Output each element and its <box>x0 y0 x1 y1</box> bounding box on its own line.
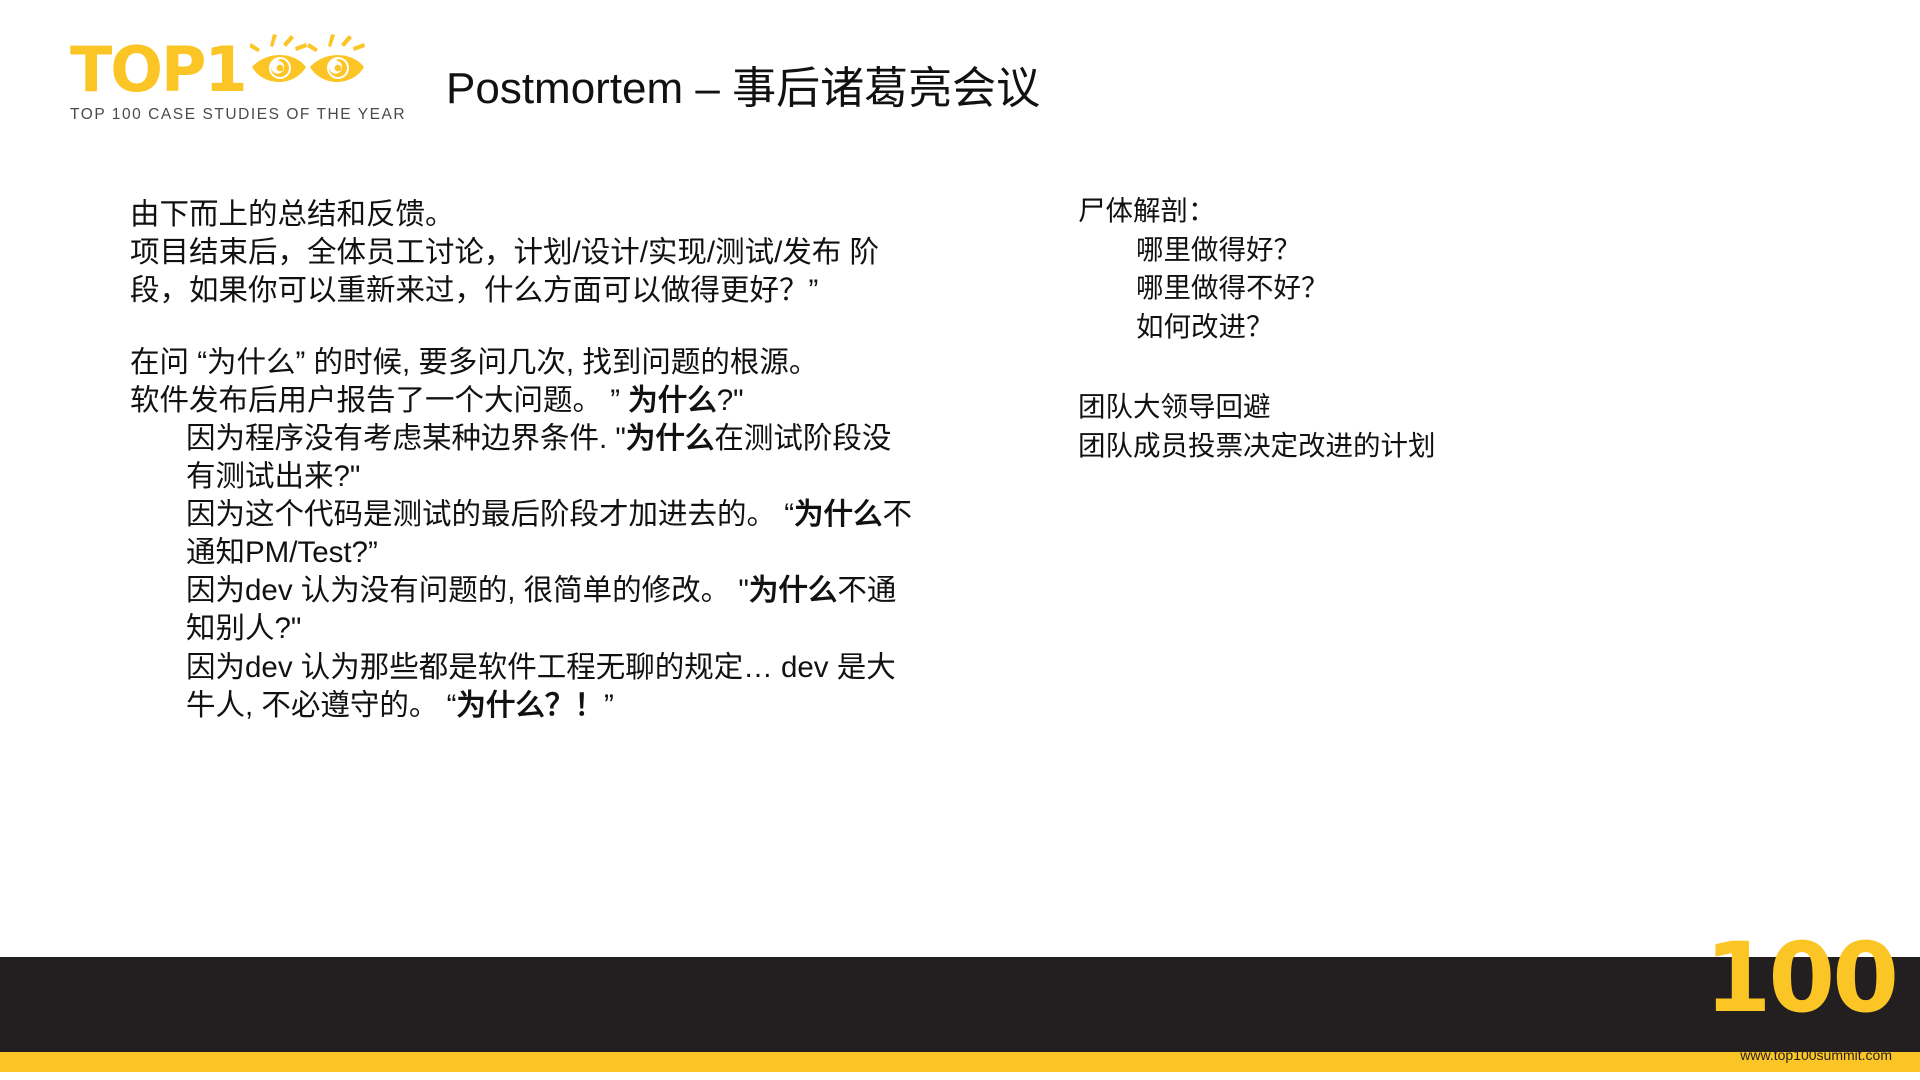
why-answer-2-prefix: 因为这个代码是测试的最后阶段才加进去的。 “ <box>186 498 794 531</box>
team-rule-1: 团队大领导回避 <box>1078 388 1618 427</box>
right-content-column: 尸体解剖： 哪里做得好？ 哪里做得不好？ 如何改进？ 团队大领导回避 团队成员投… <box>1078 192 1618 465</box>
footer-number: 100 <box>1705 939 1896 1018</box>
why-answer-4-bold: 为什么？！ <box>456 689 604 722</box>
why-answer-1-bold: 为什么 <box>626 422 715 455</box>
slide-canvas: TOP1 <box>0 0 1920 1080</box>
logo-tagline: TOP 100 CASE STUDIES OF THE YEAR <box>70 106 470 124</box>
why-answer-4-suffix: ” <box>604 689 614 722</box>
footer-url: www.top100summit.com <box>1740 1047 1892 1063</box>
autopsy-item-3: 如何改进？ <box>1078 308 1618 347</box>
autopsy-item-2: 哪里做得不好？ <box>1078 269 1618 308</box>
autopsy-item-1: 哪里做得好？ <box>1078 231 1618 270</box>
why-answer-4: 因为dev 认为那些都是软件工程无聊的规定… dev 是大牛人, 不必遵守的。 … <box>130 649 920 725</box>
team-rules-block: 团队大领导回避 团队成员投票决定改进的计划 <box>1078 388 1618 465</box>
team-rule-2: 团队成员投票决定改进的计划 <box>1078 427 1618 466</box>
why-answer-3-prefix: 因为dev 认为没有问题的, 很简单的修改。 " <box>186 574 749 607</box>
why-intro-line: 在问 “为什么” 的时候, 要多问几次, 找到问题的根源。 <box>130 344 920 382</box>
two-eyes-icon <box>250 33 368 98</box>
summary-line-2: 项目结束后，全体员工讨论，计划/设计/实现/测试/发布 阶段，如果你可以重新来过… <box>130 234 920 310</box>
why-question-suffix: ?" <box>717 384 744 417</box>
why-question-bold: 为什么 <box>628 384 717 417</box>
page-title: Postmortem – 事后诸葛亮会议 <box>446 52 1040 116</box>
why-answer-1-prefix: 因为程序没有考虑某种边界条件. " <box>186 422 626 455</box>
why-question-prefix: 软件发布后用户报告了一个大问题。 ” <box>130 384 628 417</box>
left-content-column: 由下而上的总结和反馈。 项目结束后，全体员工讨论，计划/设计/实现/测试/发布 … <box>130 196 920 725</box>
summary-line-1: 由下而上的总结和反馈。 <box>130 196 920 234</box>
brand-logo: TOP1 <box>70 28 470 124</box>
paragraph-five-whys: 在问 “为什么” 的时候, 要多问几次, 找到问题的根源。 软件发布后用户报告了… <box>130 344 920 724</box>
why-answer-3: 因为dev 认为没有问题的, 很简单的修改。 "为什么不通知别人?" <box>130 572 920 648</box>
footer-accent-stripe: www.top100summit.com <box>0 1052 1920 1072</box>
why-question-line: 软件发布后用户报告了一个大问题。 ” 为什么?" <box>130 382 920 420</box>
logo-wordmark: TOP1 <box>70 41 246 100</box>
footer-bar: 100 <box>0 957 1920 1052</box>
autopsy-block: 尸体解剖： 哪里做得好？ 哪里做得不好？ 如何改进？ <box>1078 192 1618 346</box>
footer-base-strip <box>0 1072 1920 1080</box>
paragraph-summary: 由下而上的总结和反馈。 项目结束后，全体员工讨论，计划/设计/实现/测试/发布 … <box>130 196 920 310</box>
why-answer-1: 因为程序没有考虑某种边界条件. "为什么在测试阶段没有测试出来?" <box>130 420 920 496</box>
autopsy-heading: 尸体解剖： <box>1078 192 1618 231</box>
why-answer-3-bold: 为什么 <box>749 574 838 607</box>
logo-row: TOP1 <box>70 28 470 100</box>
why-answer-2: 因为这个代码是测试的最后阶段才加进去的。 “为什么不通知PM/Test?” <box>130 496 920 572</box>
why-answer-2-bold: 为什么 <box>794 498 883 531</box>
